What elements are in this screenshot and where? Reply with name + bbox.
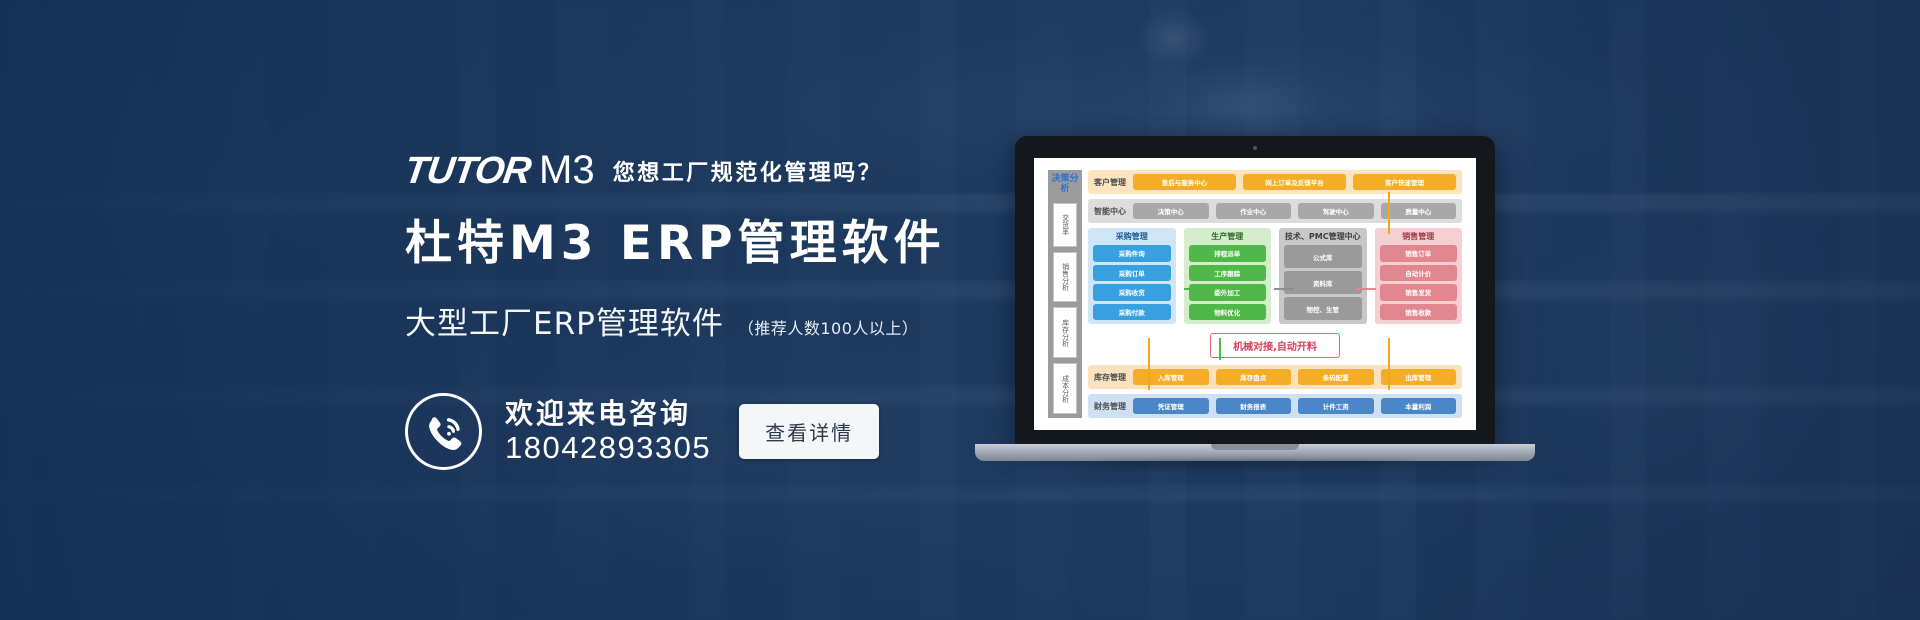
contact-phone-number[interactable]: 18042893305 — [505, 430, 711, 466]
chip-service-center: 售后与服务中心 — [1133, 174, 1236, 190]
chip-cvp-analysis: 本量利润 — [1381, 398, 1457, 414]
chip-barcode-config: 条码配置 — [1298, 369, 1374, 385]
laptop-shadow — [1095, 461, 1415, 466]
chip-quick-customer-mgmt: 客户快速管理 — [1353, 174, 1456, 190]
eyebrow-question: 您想工厂规范化管理吗？ — [613, 155, 883, 190]
column-item: 公式库 — [1284, 245, 1362, 268]
chip-voucher: 凭证管理 — [1133, 398, 1209, 414]
chip-operation-center: 作业中心 — [1216, 203, 1292, 219]
sidebar-heading: 决策分析 — [1048, 173, 1082, 198]
contact-title: 欢迎来电咨询 — [505, 397, 711, 430]
band-customer-management: 客户管理 售后与服务中心 网上订单及反馈平台 客户快速管理 — [1088, 170, 1462, 194]
chip-outbound: 出库管理 — [1381, 369, 1457, 385]
band-finance-management: 财务管理 凭证管理 财务报表 计件工资 本量利润 — [1088, 394, 1462, 418]
column-item: 销售发货 — [1380, 284, 1458, 300]
subtitle-note: （推荐人数100人以上） — [738, 315, 919, 339]
column-title: 采购管理 — [1093, 232, 1171, 241]
banner-copy-block: TUTORM3 您想工厂规范化管理吗？ 杜特M3 ERP管理软件 大型工厂ERP… — [405, 0, 1025, 620]
chip-stocktake: 库存盘点 — [1216, 369, 1292, 385]
column-item: 资料库 — [1284, 271, 1362, 294]
webcam-icon — [1253, 146, 1257, 150]
column-item: 排程派单 — [1189, 245, 1267, 261]
band-label: 客户管理 — [1094, 177, 1126, 188]
column-item: 物控、生管 — [1284, 297, 1362, 320]
column-item: 采购件询 — [1093, 245, 1171, 261]
band-inventory-management: 库存管理 入库管理 库存盘点 条码配置 出库管理 — [1088, 365, 1462, 389]
chip-financial-report: 财务报表 — [1216, 398, 1292, 414]
laptop-lid: 决策分析 交货率 销售分析 库存分析 成本分析 客户管理 售后与服务中心 网上订… — [1015, 136, 1495, 446]
column-purchase-management: 采购管理 采购件询 采购订单 采购收货 采购付款 — [1088, 228, 1176, 324]
auto-cutting-callout: 机械对接,自动开料 — [1210, 333, 1340, 358]
column-item: 采购付款 — [1093, 304, 1171, 320]
chip-inbound: 入库管理 — [1133, 369, 1209, 385]
column-item: 自动计价 — [1380, 265, 1458, 281]
column-item: 工序跟踪 — [1189, 265, 1267, 281]
brand-logo-suffix: M3 — [539, 150, 595, 190]
sidebar-item-delivery: 交货率 — [1053, 203, 1077, 247]
laptop-trackpad-notch — [1211, 444, 1299, 450]
diagram-main: 客户管理 售后与服务中心 网上订单及反馈平台 客户快速管理 智能中心 决策中心 … — [1088, 170, 1462, 418]
brand-logo: TUTORM3 — [402, 150, 597, 190]
connector-production-to-auto — [1219, 338, 1221, 360]
column-title: 销售管理 — [1380, 232, 1458, 241]
chip-decision-center: 决策中心 — [1133, 203, 1209, 219]
column-item: 采购收货 — [1093, 284, 1171, 300]
laptop-mockup: 决策分析 交货率 销售分析 库存分析 成本分析 客户管理 售后与服务中心 网上订… — [975, 136, 1535, 486]
sidebar-item-stock-analysis: 库存分析 — [1053, 307, 1077, 358]
column-item: 采购订单 — [1093, 265, 1171, 281]
diagram-columns: 采购管理 采购件询 采购订单 采购收货 采购付款 生产管理 排程派单 工序跟踪 … — [1088, 228, 1462, 324]
connector-production-to-purchase — [1184, 288, 1206, 290]
column-item: 委外加工 — [1189, 284, 1267, 300]
laptop-screen: 决策分析 交货率 销售分析 库存分析 成本分析 客户管理 售后与服务中心 网上订… — [1034, 158, 1476, 430]
promo-banner: TUTORM3 您想工厂规范化管理吗？ 杜特M3 ERP管理软件 大型工厂ERP… — [0, 0, 1920, 620]
band-label: 智能中心 — [1094, 206, 1126, 217]
contact-text: 欢迎来电咨询 18042893305 — [505, 397, 711, 466]
brand-logo-main: TUTOR — [402, 150, 533, 192]
sidebar-item-sales-analysis: 销售分析 — [1053, 252, 1077, 303]
column-title: 生产管理 — [1189, 232, 1267, 241]
phone-ring-icon — [405, 393, 482, 470]
column-item: 销售订单 — [1380, 245, 1458, 261]
erp-architecture-diagram: 决策分析 交货率 销售分析 库存分析 成本分析 客户管理 售后与服务中心 网上订… — [1048, 170, 1462, 418]
diagram-sidebar: 决策分析 交货率 销售分析 库存分析 成本分析 — [1048, 170, 1082, 418]
connector-tech-to-production — [1274, 288, 1294, 290]
connector-purchase-to-stock — [1148, 338, 1150, 390]
column-item: 销售收款 — [1380, 304, 1458, 320]
connector-customer-to-sales — [1388, 192, 1390, 234]
column-tech-pmc-center: 技术、PMC管理中心 公式库 资料库 物控、生管 — [1279, 228, 1367, 324]
subtitle-main: 大型工厂ERP管理软件 — [405, 298, 724, 343]
connector-sales-to-stock — [1388, 338, 1390, 390]
chip-online-order-platform: 网上订单及反馈平台 — [1243, 174, 1346, 190]
column-production-management: 生产管理 排程派单 工序跟踪 委外加工 物料优化 — [1184, 228, 1272, 324]
chip-cockpit-center: 驾驶中心 — [1298, 203, 1374, 219]
sidebar-item-cost-analysis: 成本分析 — [1053, 363, 1077, 414]
column-title: 技术、PMC管理中心 — [1284, 232, 1362, 241]
column-item: 物料优化 — [1189, 304, 1267, 320]
eyebrow-row: TUTORM3 您想工厂规范化管理吗？ — [405, 150, 1025, 190]
connector-sales-to-tech — [1356, 288, 1376, 290]
band-label: 库存管理 — [1094, 372, 1126, 383]
subtitle-row: 大型工厂ERP管理软件 （推荐人数100人以上） — [405, 298, 1025, 343]
page-title: 杜特M3 ERP管理软件 — [405, 216, 1025, 271]
chip-piecework-wage: 计件工资 — [1298, 398, 1374, 414]
band-smart-center: 智能中心 决策中心 作业中心 驾驶中心 质量中心 — [1088, 199, 1462, 223]
view-details-button[interactable]: 查看详情 — [739, 404, 879, 459]
column-sales-management: 销售管理 销售订单 自动计价 销售发货 销售收款 — [1375, 228, 1463, 324]
contact-row: 欢迎来电咨询 18042893305 查看详情 — [405, 393, 1025, 470]
chip-quality-center: 质量中心 — [1381, 203, 1457, 219]
band-label: 财务管理 — [1094, 401, 1126, 412]
